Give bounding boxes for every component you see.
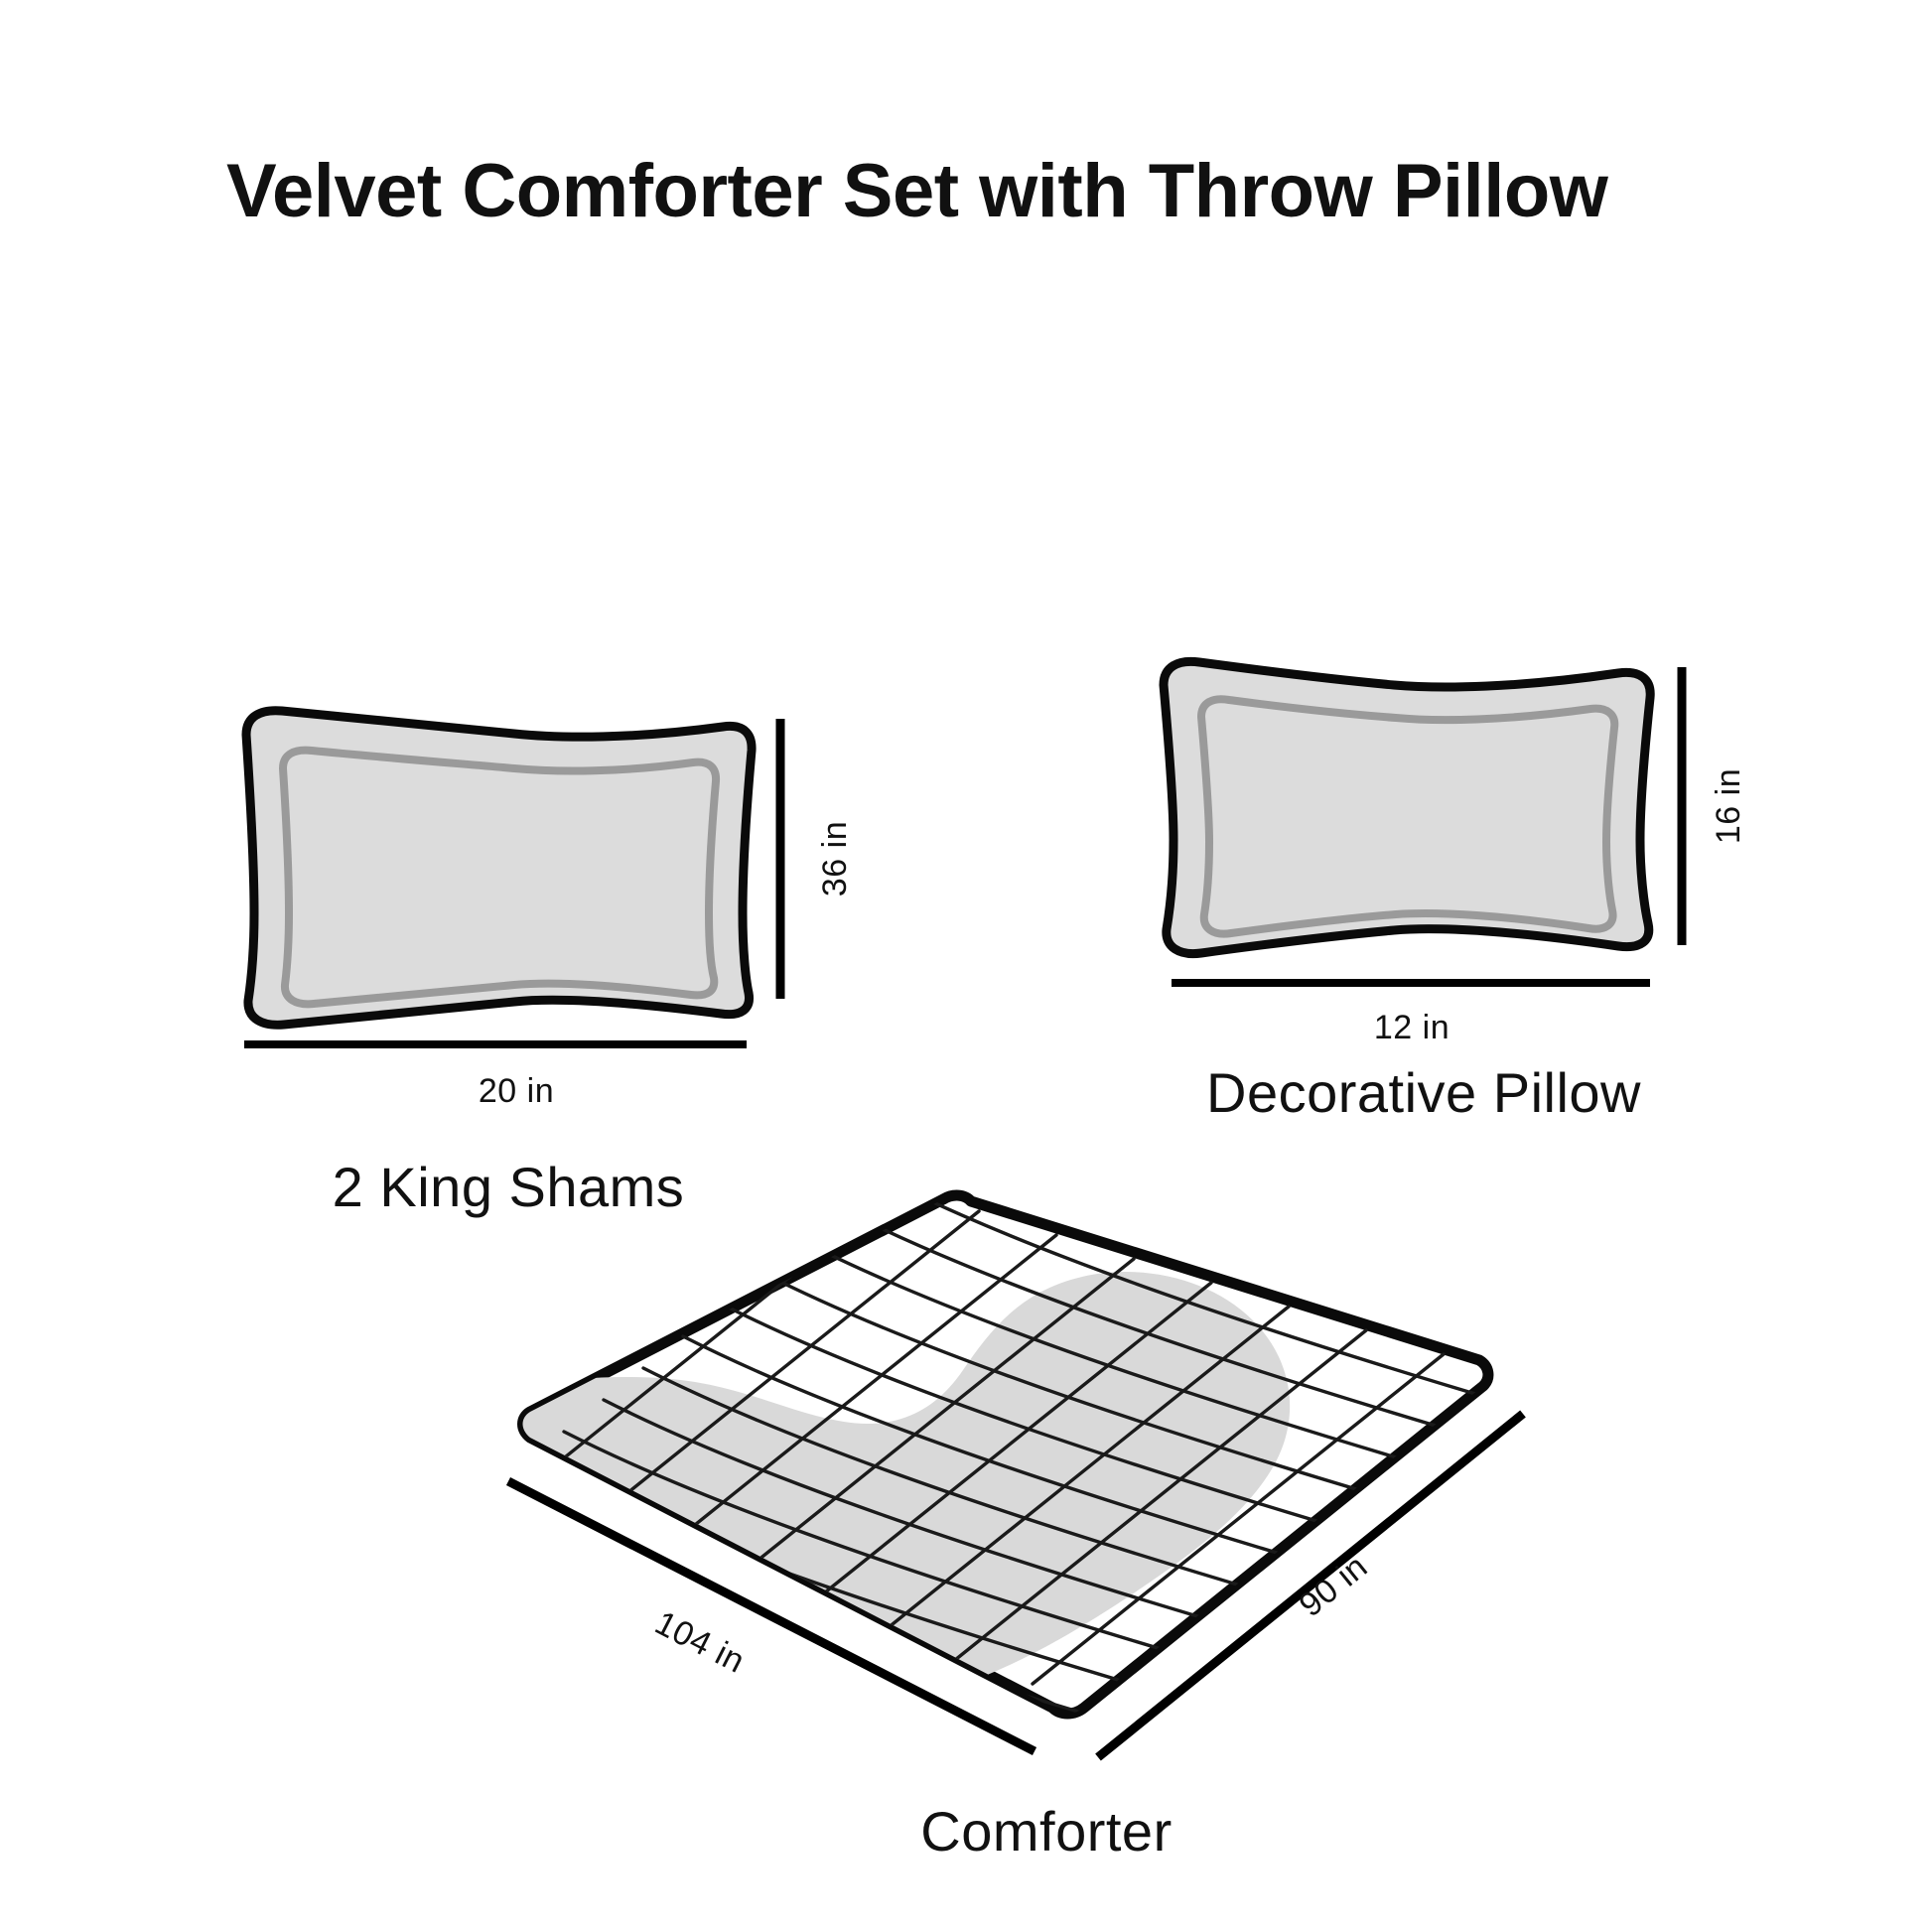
comforter-depth-label: 90 in (1292, 1548, 1374, 1625)
comforter-part-label: Comforter (920, 1800, 1172, 1863)
page-title: Velvet Comforter Set with Throw Pillow (226, 149, 1609, 233)
sham-height-label: 36 in (816, 821, 854, 897)
pillow-part-label: Decorative Pillow (1206, 1061, 1641, 1124)
king-sham-group: 36 in 20 in 2 King Shams (244, 711, 854, 1218)
dimension-illustration: Velvet Comforter Set with Throw Pillow 3… (0, 0, 1932, 1932)
decorative-pillow-group: 16 in 12 in Decorative Pillow (1164, 661, 1747, 1124)
pillow-sham-icon (246, 711, 752, 1026)
pillow-width-label: 12 in (1374, 1009, 1449, 1046)
sham-part-label: 2 King Shams (333, 1156, 685, 1218)
sham-width-label: 20 in (479, 1072, 554, 1110)
comforter-group: 104 in 90 in Comforter (484, 1177, 1598, 1863)
comforter-width-label: 104 in (649, 1604, 751, 1681)
pillow-height-label: 16 in (1710, 768, 1747, 844)
product-dimension-diagram: Velvet Comforter Set with Throw Pillow 3… (0, 0, 1932, 1932)
